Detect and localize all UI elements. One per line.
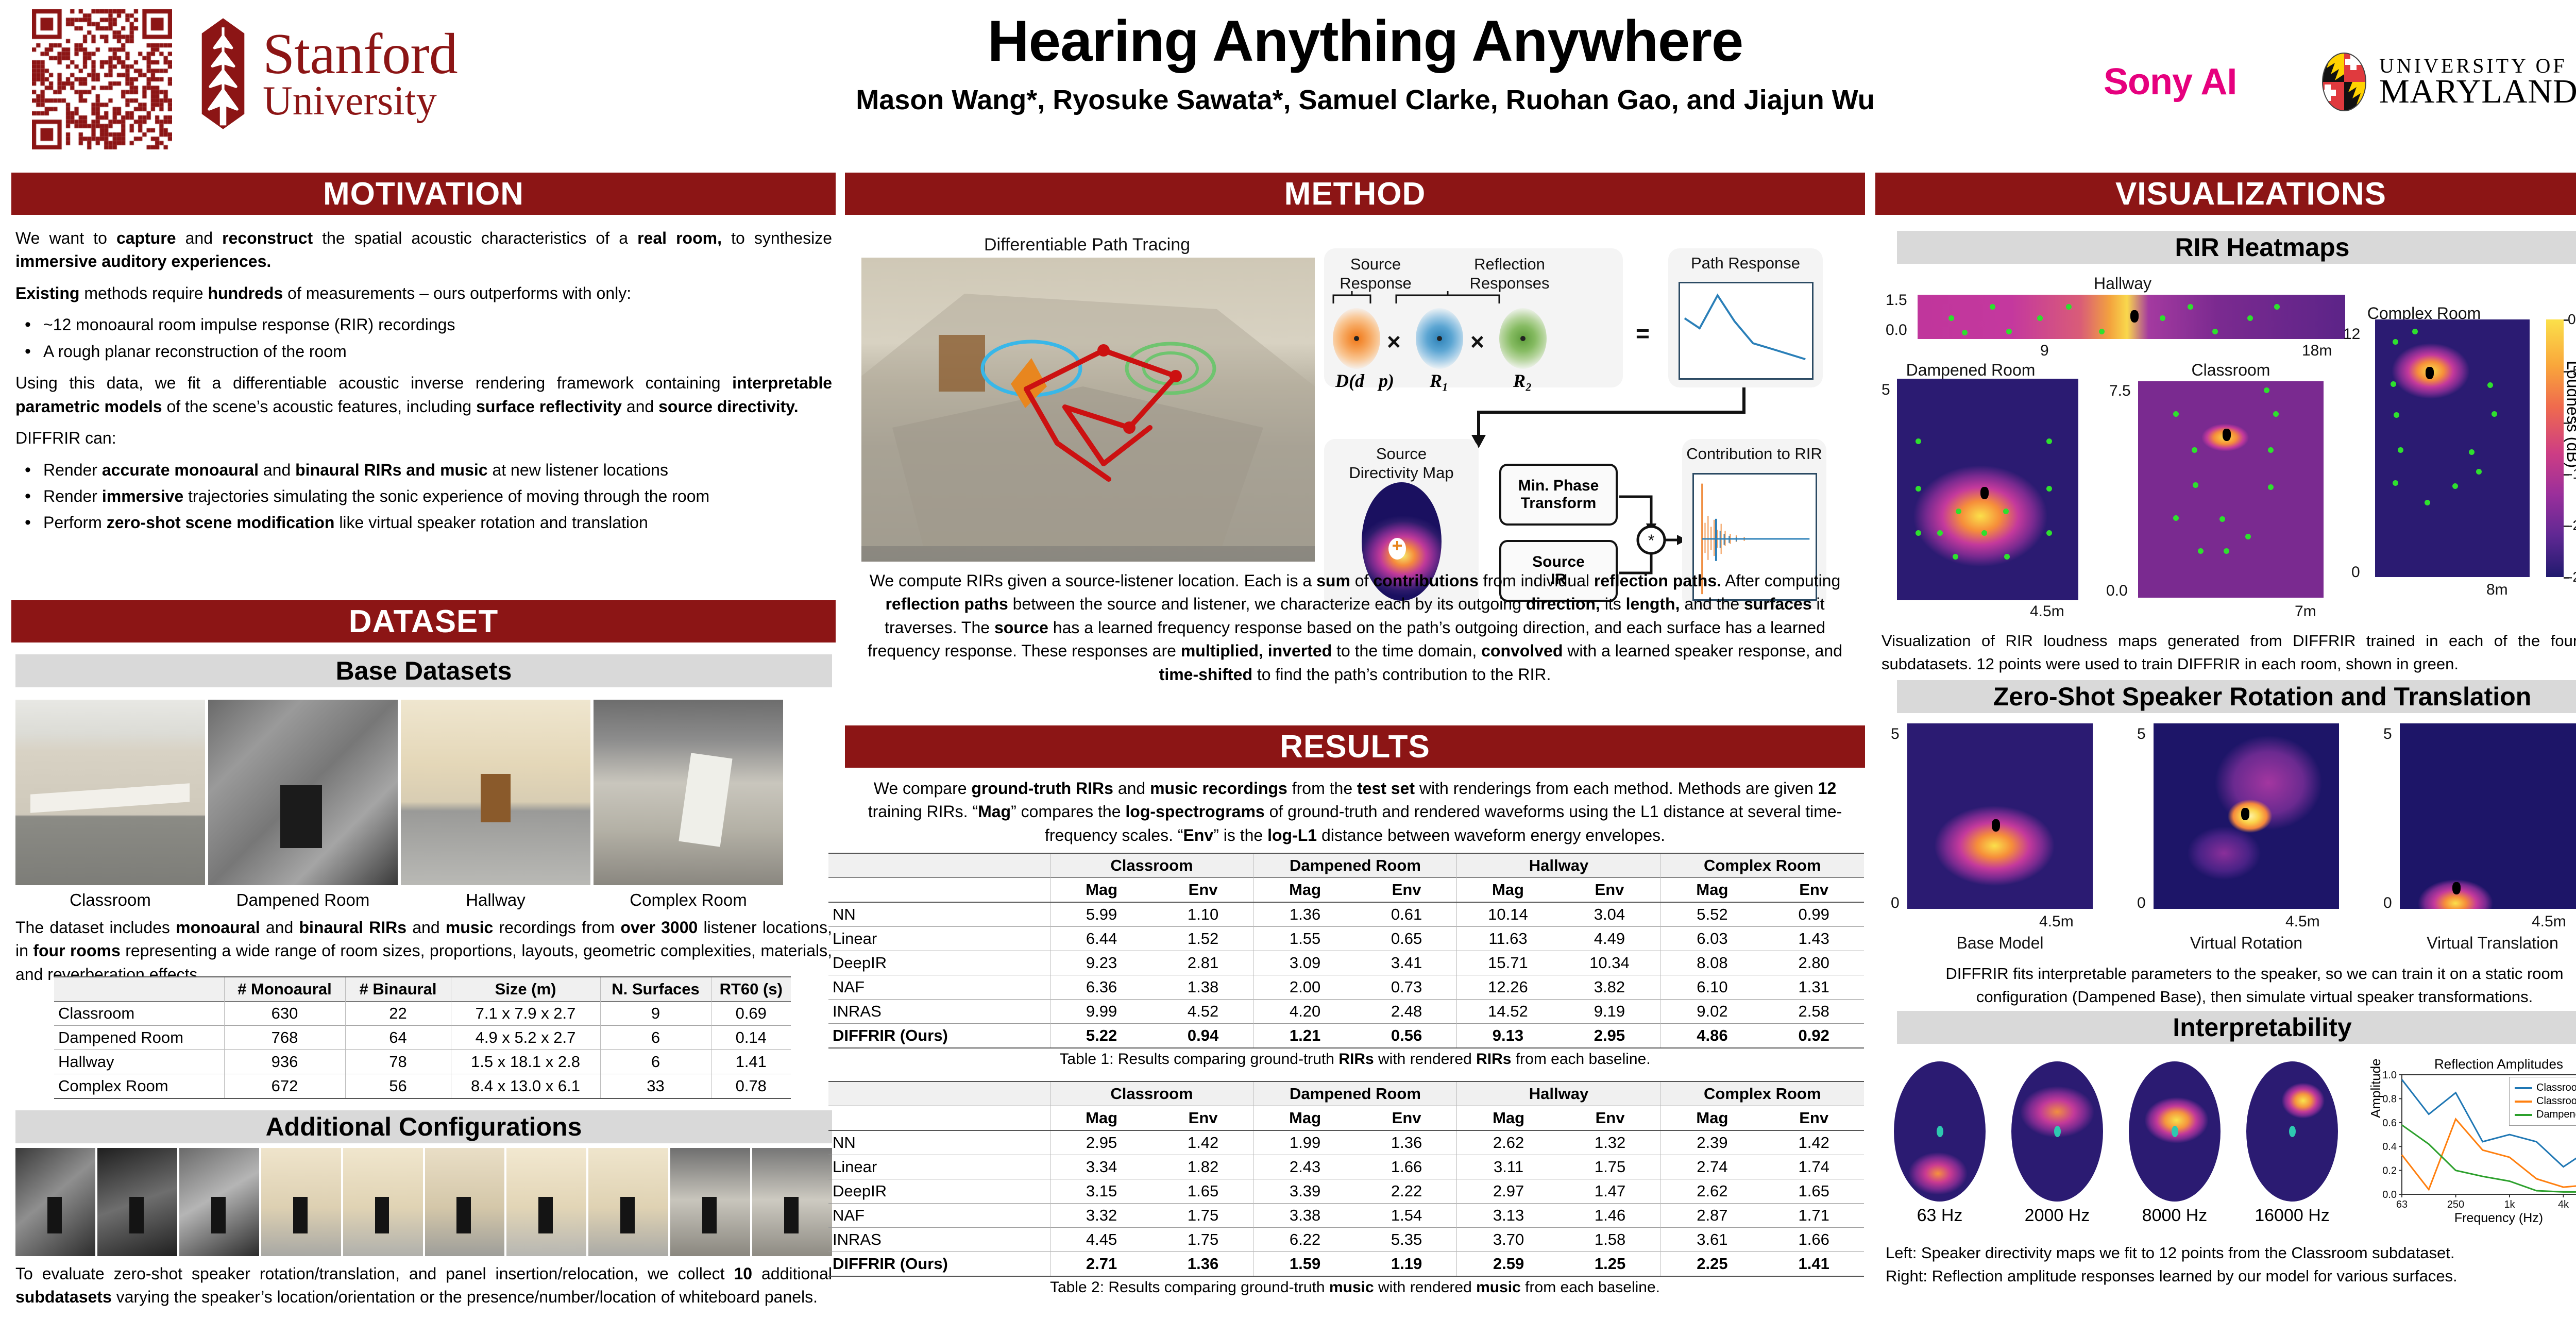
- svg-text:63: 63: [2396, 1199, 2408, 1210]
- col-header-metric-5: Env: [1560, 1106, 1660, 1131]
- heatmap-title-hallway: Hallway: [1906, 274, 2339, 293]
- additional-config-description: To evaluate zero-shot speaker rotation/t…: [15, 1262, 832, 1317]
- cell-method: DeepIR: [828, 1179, 1050, 1204]
- cell-value: 3.61: [1660, 1228, 1764, 1252]
- table-row: Hallway 936 78 1.5 x 18.1 x 2.8 6 1.41: [54, 1050, 791, 1074]
- complex-ytick-min: 0: [2351, 564, 2360, 581]
- label-source-directivity-map: SourceDirectivity Map: [1324, 444, 1479, 482]
- cell-value: 9.23: [1050, 951, 1153, 975]
- cell-value: 1.36: [1253, 902, 1357, 927]
- svg-text:0.8: 0.8: [2382, 1093, 2397, 1105]
- cell-value: 1.32: [1560, 1130, 1660, 1155]
- cell-value: 2.80: [1764, 951, 1864, 975]
- colorbar-label: Loudness (dB): [2563, 361, 2576, 468]
- cell-value: 6.36: [1050, 975, 1153, 1000]
- cell-value: 5.35: [1357, 1228, 1457, 1252]
- col-header-method: [828, 1081, 1050, 1106]
- cell-value: 3.15: [1050, 1179, 1153, 1204]
- additional-config-photo-10: [752, 1148, 832, 1256]
- table-row: NN2.951.421.991.362.621.322.391.42: [828, 1130, 1864, 1155]
- zeroshot-heatmap-base-model: [1907, 723, 2093, 909]
- cell-value: 1.66: [1764, 1228, 1864, 1252]
- col-group-0: Classroom: [1050, 1081, 1253, 1106]
- col-header-metric-2: Mag: [1253, 1106, 1357, 1131]
- cell-rt60: 0.78: [711, 1074, 791, 1099]
- section-header-motivation: MOTIVATION: [11, 173, 836, 215]
- zeroshot-label-virtual-translation: Virtual Translation: [2400, 934, 2576, 953]
- chart-ylabel: Amplitude: [2368, 1058, 2384, 1118]
- cell-value: 1.58: [1560, 1228, 1660, 1252]
- col-header-metric-0: Mag: [1050, 1106, 1153, 1131]
- cell-value: 9.02: [1660, 1000, 1764, 1024]
- cell-value: 0.73: [1357, 975, 1457, 1000]
- page-title: Hearing Anything Anywhere: [706, 10, 2025, 73]
- table-row: NAF6.361.382.000.7312.263.826.101.31: [828, 975, 1864, 1000]
- dataset-table-body: Classroom 630 22 7.1 x 7.9 x 2.7 9 0.69 …: [54, 1002, 791, 1099]
- colorbar-tick-0: 0: [2568, 311, 2576, 328]
- cell-value: 1.99: [1253, 1130, 1357, 1155]
- speaker-marker: [1980, 487, 1989, 499]
- poster-header: Stanford University Hearing Anything Any…: [0, 0, 2576, 165]
- list-item: Render accurate monoaural and binaural R…: [15, 459, 832, 482]
- list-item: Perform zero-shot scene modification lik…: [15, 511, 832, 534]
- cell-value: 0.61: [1357, 902, 1457, 927]
- cell-value: 1.75: [1153, 1228, 1253, 1252]
- cell-value: 3.32: [1050, 1204, 1153, 1228]
- cell-monoaural: 630: [224, 1002, 345, 1026]
- section-header-results: RESULTS: [845, 725, 1865, 768]
- stanford-logo: Stanford University: [196, 14, 457, 133]
- directivity-label-8000hz: 8000 Hz: [2129, 1206, 2221, 1226]
- cell-value: 3.34: [1050, 1155, 1153, 1179]
- cell-value: 1.71: [1764, 1204, 1864, 1228]
- cell-value: 1.75: [1560, 1155, 1660, 1179]
- zs2-ytick-min: 0: [2137, 894, 2146, 912]
- col-header-rt60: RT60 (s): [711, 977, 791, 1002]
- col-group-3: Complex Room: [1660, 853, 1864, 878]
- umd-wordmark-line2: MARYLAND: [2379, 76, 2576, 108]
- cell-value: 4.45: [1050, 1228, 1153, 1252]
- label-source-response: SourceResponse: [1329, 255, 1422, 293]
- cell-value: 1.46: [1560, 1204, 1660, 1228]
- col-group-3: Complex Room: [1660, 1081, 1864, 1106]
- cell-value: 1.36: [1153, 1252, 1253, 1277]
- complex-ytick-max: 12: [2343, 326, 2360, 343]
- path-tracing-overlay: [861, 258, 1315, 562]
- cell-value: 9.19: [1558, 1000, 1660, 1024]
- svg-text:0.2: 0.2: [2382, 1165, 2397, 1177]
- cell-method: NN: [828, 1130, 1050, 1155]
- col-group-2: Hallway: [1457, 853, 1660, 878]
- hallway-xtick-max: 18m: [2302, 342, 2332, 360]
- zeroshot-label-virtual-rotation: Virtual Rotation: [2154, 934, 2339, 953]
- hallway-ytick-max: 1.5: [1886, 292, 1907, 309]
- cell-surfaces: 6: [600, 1026, 711, 1050]
- cell-value: 9.13: [1457, 1024, 1559, 1049]
- zs2-xtick: 4.5m: [2285, 913, 2320, 931]
- cell-value: 0.92: [1764, 1024, 1864, 1049]
- method-body: We compute RIRs given a source-listener …: [850, 569, 1860, 695]
- cell-value: 2.39: [1660, 1130, 1764, 1155]
- cell-monoaural: 936: [224, 1050, 345, 1074]
- cell-value: 4.20: [1253, 1000, 1357, 1024]
- list-item: A rough planar reconstruction of the roo…: [15, 340, 832, 363]
- legend-item-2: Dampened Wall: [2515, 1109, 2576, 1121]
- cell-binaural: 56: [345, 1074, 451, 1099]
- list-item: ~12 monoaural room impulse response (RIR…: [15, 313, 832, 336]
- table2-caption: Table 2: Results comparing ground-truth …: [845, 1277, 1865, 1298]
- table-row: NN5.991.101.360.6110.143.045.520.99: [828, 902, 1864, 927]
- cell-monoaural: 672: [224, 1074, 345, 1099]
- dataset-room-table: # Monoaural # Binaural Size (m) N. Surfa…: [54, 976, 791, 1099]
- motivation-paragraph-2: Existing methods require hundreds of mea…: [15, 282, 832, 305]
- subsection-zero-shot: Zero-Shot Speaker Rotation and Translati…: [1897, 680, 2576, 713]
- colorbar-loudness: [2546, 319, 2564, 577]
- cell-value: 0.65: [1357, 927, 1457, 951]
- complex-xtick-max: 8m: [2486, 581, 2508, 599]
- cell-value: 1.65: [1153, 1179, 1253, 1204]
- cell-value: 6.03: [1660, 927, 1764, 951]
- additional-config-photo-2: [97, 1148, 177, 1256]
- cell-value: 1.52: [1153, 927, 1253, 951]
- brace-icons: [1329, 291, 1618, 307]
- cell-value: 5.22: [1050, 1024, 1153, 1049]
- col-header-monoaural: # Monoaural: [224, 977, 345, 1002]
- col-header-metric-3: Env: [1357, 1106, 1457, 1131]
- min-phase-transform-node: Min. PhaseTransform: [1499, 464, 1618, 526]
- list-item: Render immersive trajectories simulating…: [15, 485, 832, 508]
- speaker-marker: [2426, 367, 2434, 379]
- cell-value: 5.52: [1660, 902, 1764, 927]
- title-block: Hearing Anything Anywhere Mason Wang*, R…: [706, 10, 2025, 116]
- col-header-binaural: # Binaural: [345, 977, 451, 1002]
- col-header-metric-3: Env: [1357, 878, 1457, 903]
- directivity-map-2000hz: [2011, 1061, 2103, 1202]
- cell-value: 10.14: [1457, 902, 1559, 927]
- label-D-d-p: D(d⃗p): [1335, 370, 1394, 392]
- table-row: Linear3.341.822.431.663.111.752.741.74: [828, 1155, 1864, 1179]
- umd-logo: UNIVERSITY OF MARYLAND: [2318, 52, 2576, 112]
- zs1-ytick-min: 0: [1891, 894, 1900, 912]
- section-header-visualizations: VISUALIZATIONS: [1875, 173, 2576, 215]
- cell-value: 1.47: [1560, 1179, 1660, 1204]
- heatmap-dampened-room: [1897, 379, 2078, 600]
- cell-value: 2.22: [1357, 1179, 1457, 1204]
- cell-binaural: 78: [345, 1050, 451, 1074]
- subsection-base-datasets: Base Datasets: [15, 654, 832, 687]
- reflection-response-2-blob: [1499, 308, 1547, 369]
- cell-room: Classroom: [54, 1002, 224, 1026]
- cell-value: 3.39: [1253, 1179, 1357, 1204]
- cell-method: Linear: [828, 1155, 1050, 1179]
- svg-text:250: 250: [2447, 1199, 2464, 1210]
- zeroshot-label-base-model: Base Model: [1907, 934, 2093, 953]
- col-group-0: Classroom: [1050, 853, 1253, 878]
- col-header-metric-6: Mag: [1660, 1106, 1764, 1131]
- photo-label-classroom: Classroom: [15, 890, 205, 910]
- cell-value: 8.08: [1660, 951, 1764, 975]
- legend-item-1: Classroom Floor: [2515, 1095, 2576, 1107]
- heatmap-caption: Visualization of RIR loudness maps gener…: [1882, 630, 2576, 676]
- additional-config-photo-5: [343, 1148, 423, 1256]
- heatmap-classroom: [2138, 381, 2324, 598]
- cell-value: 3.09: [1253, 951, 1357, 975]
- photo-classroom: [15, 700, 205, 885]
- cell-value: 6.44: [1050, 927, 1153, 951]
- subsection-interpretability: Interpretability: [1897, 1011, 2576, 1044]
- col-header-metric-5: Env: [1558, 878, 1660, 903]
- path-response-plot: [1679, 282, 1814, 380]
- col-header-metric-0: Mag: [1050, 878, 1153, 903]
- cell-value: 9.99: [1050, 1000, 1153, 1024]
- cell-value: 2.43: [1253, 1155, 1357, 1179]
- svg-text:0.6: 0.6: [2382, 1118, 2397, 1129]
- cell-surfaces: 33: [600, 1074, 711, 1099]
- cell-value: 1.75: [1153, 1204, 1253, 1228]
- photo-hallway: [401, 700, 590, 885]
- cell-rt60: 0.69: [711, 1002, 791, 1026]
- zs3-xtick: 4.5m: [2532, 913, 2566, 931]
- photo-label-complex-room: Complex Room: [594, 890, 783, 910]
- speaker-marker: [2223, 429, 2231, 441]
- cell-value: 1.25: [1560, 1252, 1660, 1277]
- motivation-bullet-list-2: Render accurate monoaural and binaural R…: [15, 459, 832, 535]
- table1-caption: Table 1: Results comparing ground-truth …: [845, 1049, 1865, 1070]
- motivation-bullet-list-1: ~12 monoaural room impulse response (RIR…: [15, 313, 832, 363]
- path-response-line: [1680, 283, 1812, 378]
- legend-item-0: Classroom Wall: [2515, 1082, 2576, 1094]
- col-header-metric-4: Mag: [1457, 878, 1559, 903]
- motivation-paragraph-3: Using this data, we fit a differentiable…: [15, 371, 832, 418]
- heatmap-complex-room: [2375, 319, 2530, 577]
- additional-config-photo-9: [670, 1148, 750, 1256]
- table-row: Classroom 630 22 7.1 x 7.9 x 2.7 9 0.69: [54, 1002, 791, 1026]
- cell-value: 2.95: [1050, 1130, 1153, 1155]
- qr-code[interactable]: [32, 9, 172, 149]
- chart-xlabel: Frequency (Hz): [2370, 1211, 2576, 1226]
- reflection-response-1-blob: [1416, 308, 1463, 369]
- cell-method: DeepIR: [828, 951, 1050, 975]
- zs2-ytick-max: 5: [2137, 725, 2146, 743]
- table-row: DIFFRIR (Ours)2.711.361.591.192.591.252.…: [828, 1252, 1864, 1277]
- cell-size: 8.4 x 13.0 x 6.1: [451, 1074, 600, 1099]
- cell-value: 1.36: [1357, 1130, 1457, 1155]
- col-header-metric-2: Mag: [1253, 878, 1357, 903]
- cell-value: 2.62: [1660, 1179, 1764, 1204]
- hallway-xtick-mid: 9: [2040, 342, 2049, 360]
- cell-value: 2.25: [1660, 1252, 1764, 1277]
- cell-value: 2.48: [1357, 1000, 1457, 1024]
- speaker-marker: [2452, 882, 2461, 894]
- photo-label-dampened-room: Dampened Room: [208, 890, 398, 910]
- col-group-2: Hallway: [1457, 1081, 1660, 1106]
- multiply-symbol-1: ×: [1387, 328, 1401, 356]
- colorbar-tick-3: -15: [2568, 466, 2576, 482]
- cell-value: 1.41: [1764, 1252, 1864, 1277]
- cell-surfaces: 6: [600, 1050, 711, 1074]
- cell-value: 4.49: [1558, 927, 1660, 951]
- cell-value: 1.42: [1764, 1130, 1864, 1155]
- heatmap-hallway: [1918, 295, 2345, 339]
- cell-value: 1.21: [1253, 1024, 1357, 1049]
- zs3-ytick-max: 5: [2383, 725, 2392, 743]
- photo-dampened-room: [208, 700, 398, 885]
- cell-value: 2.74: [1660, 1155, 1764, 1179]
- photo-label-hallway: Hallway: [401, 890, 590, 910]
- hallway-ytick-min: 0.0: [1886, 322, 1907, 339]
- cell-value: 1.31: [1764, 975, 1864, 1000]
- cell-value: 6.22: [1253, 1228, 1357, 1252]
- multiply-symbol-2: ×: [1470, 328, 1484, 356]
- cell-value: 10.34: [1558, 951, 1660, 975]
- cell-value: 0.94: [1153, 1024, 1253, 1049]
- cell-method: INRAS: [828, 1228, 1050, 1252]
- cell-value: 1.43: [1764, 927, 1864, 951]
- cell-value: 2.97: [1457, 1179, 1560, 1204]
- svg-text:1.0: 1.0: [2382, 1070, 2397, 1081]
- cell-value: 5.99: [1050, 902, 1153, 927]
- interpretability-caption-left: Left: Speaker directivity maps we fit to…: [1886, 1242, 2576, 1265]
- cell-method: NN: [828, 902, 1050, 927]
- section-header-dataset: DATASET: [11, 600, 836, 642]
- poster-root: Stanford University Hearing Anything Any…: [0, 0, 2576, 1319]
- photo-complex-room: [594, 700, 783, 885]
- cell-value: 1.65: [1764, 1179, 1864, 1204]
- cell-value: 2.62: [1457, 1130, 1560, 1155]
- cell-value: 11.63: [1457, 927, 1559, 951]
- cell-value: 4.52: [1153, 1000, 1253, 1024]
- zeroshot-heatmap-virtual-rotation: [2154, 723, 2339, 909]
- cell-value: 2.71: [1050, 1252, 1153, 1277]
- directivity-label-16000hz: 16000 Hz: [2246, 1206, 2338, 1226]
- cell-value: 1.59: [1253, 1252, 1357, 1277]
- cell-size: 7.1 x 7.9 x 2.7: [451, 1002, 600, 1026]
- cell-value: 3.82: [1558, 975, 1660, 1000]
- colorbar-tick-4: -20: [2568, 517, 2576, 534]
- zs3-ytick-min: 0: [2383, 894, 2392, 912]
- speaker-marker: [1992, 819, 2000, 832]
- cell-value: 2.81: [1153, 951, 1253, 975]
- dampened-xtick-max: 4.5m: [2030, 603, 2064, 620]
- results-intro: We compare ground-truth RIRs and music r…: [855, 777, 1855, 855]
- interpretability-caption-right: Right: Reflection amplitude responses le…: [1886, 1265, 2576, 1288]
- author-list: Mason Wang*, Ryosuke Sawata*, Samuel Cla…: [706, 84, 2025, 116]
- cell-value: 2.59: [1457, 1252, 1560, 1277]
- motivation-body: We want to capture and reconstruct the s…: [15, 227, 832, 538]
- zs1-ytick-max: 5: [1891, 725, 1900, 743]
- cell-value: 3.11: [1457, 1155, 1560, 1179]
- table-row: Linear6.441.521.550.6511.634.496.031.43: [828, 927, 1864, 951]
- directivity-map-8000hz: [2129, 1061, 2221, 1202]
- col-header-size: Size (m): [451, 977, 600, 1002]
- zeroshot-heatmap-virtual-translation: [2400, 723, 2576, 909]
- cell-method: NAF: [828, 1204, 1050, 1228]
- subsection-additional-configurations: Additional Configurations: [15, 1110, 832, 1143]
- cell-value: 0.99: [1764, 902, 1864, 927]
- cell-size: 1.5 x 18.1 x 2.8: [451, 1050, 600, 1074]
- cell-value: 2.00: [1253, 975, 1357, 1000]
- cell-method: DIFFRIR (Ours): [828, 1024, 1050, 1049]
- cell-value: 2.87: [1660, 1204, 1764, 1228]
- cell-value: 1.82: [1153, 1155, 1253, 1179]
- table-row: NAF3.321.753.381.543.131.462.871.71: [828, 1204, 1864, 1228]
- dampened-ytick-max: 5: [1882, 381, 1890, 399]
- table-row: DeepIR9.232.813.093.4115.7110.348.082.80: [828, 951, 1864, 975]
- additional-config-photo-7: [506, 1148, 586, 1256]
- chart-legend: Classroom WallClassroom FloorDampened Wa…: [2509, 1077, 2576, 1126]
- additional-config-photo-strip: [15, 1148, 832, 1256]
- col-header-metric-7: Env: [1764, 1106, 1864, 1131]
- section-header-method: METHOD: [845, 173, 1865, 215]
- table-row: INRAS9.994.524.202.4814.529.199.022.58: [828, 1000, 1864, 1024]
- cell-rt60: 1.41: [711, 1050, 791, 1074]
- cell-value: 1.42: [1153, 1130, 1253, 1155]
- cell-room: Complex Room: [54, 1074, 224, 1099]
- classroom-ytick-max: 7.5: [2109, 382, 2131, 400]
- cell-room: Dampened Room: [54, 1026, 224, 1050]
- cell-method: INRAS: [828, 1000, 1050, 1024]
- subsection-rir-heatmaps: RIR Heatmaps: [1897, 231, 2576, 264]
- label-path-response: Path Response: [1668, 253, 1823, 273]
- cell-value: 1.55: [1253, 927, 1357, 951]
- directivity-label-2000hz: 2000 Hz: [2011, 1206, 2103, 1226]
- cell-value: 1.10: [1153, 902, 1253, 927]
- additional-config-photo-8: [588, 1148, 668, 1256]
- colorbar-tickmark-3: [2564, 474, 2569, 476]
- cell-binaural: 64: [345, 1026, 451, 1050]
- directivity-map-16000hz: [2246, 1061, 2338, 1202]
- table-row: INRAS4.451.756.225.353.701.583.611.66: [828, 1228, 1864, 1252]
- cell-value: 1.19: [1357, 1252, 1457, 1277]
- cell-value: 3.04: [1558, 902, 1660, 927]
- svg-text:4k: 4k: [2558, 1199, 2569, 1210]
- equals-symbol: =: [1636, 319, 1650, 347]
- heatmap-title-classroom: Classroom: [2154, 361, 2308, 380]
- cell-binaural: 22: [345, 1002, 451, 1026]
- col-header-surfaces: N. Surfaces: [600, 977, 711, 1002]
- source-response-blob: [1333, 308, 1380, 369]
- additional-config-photo-3: [179, 1148, 259, 1256]
- cell-value: 2.95: [1558, 1024, 1660, 1049]
- col-header-metric-4: Mag: [1457, 1106, 1560, 1131]
- cell-value: 12.26: [1457, 975, 1559, 1000]
- svg-text:*: *: [1648, 531, 1654, 550]
- table-row: DeepIR3.151.653.392.222.971.472.621.65: [828, 1179, 1864, 1204]
- cell-method: Linear: [828, 927, 1050, 951]
- colorbar-tick-5: -25: [2568, 569, 2576, 585]
- label-contribution-to-rir: Contribution to RIR: [1682, 444, 1826, 463]
- svg-text:1k: 1k: [2504, 1199, 2515, 1210]
- directivity-map-63hz: [1894, 1061, 1986, 1202]
- col-header-metric-7: Env: [1764, 878, 1864, 903]
- cell-value: 2.58: [1764, 1000, 1864, 1024]
- reflection-amplitudes-chart: Reflection Amplitudes 0.00.20.40.60.81.0…: [2370, 1056, 2576, 1226]
- col-header-metric-1: Env: [1153, 1106, 1253, 1131]
- speaker-marker: [2241, 808, 2249, 820]
- cell-value: 3.41: [1357, 951, 1457, 975]
- label-reflection-responses: ReflectionResponses: [1437, 255, 1582, 293]
- cell-value: 3.13: [1457, 1204, 1560, 1228]
- results-table-rir: ClassroomDampened RoomHallwayComplex Roo…: [828, 853, 1864, 1049]
- additional-config-photo-6: [425, 1148, 505, 1256]
- interpretability-caption: Left: Speaker directivity maps we fit to…: [1886, 1242, 2576, 1288]
- cell-value: 6.10: [1660, 975, 1764, 1000]
- stanford-wordmark-line1: Stanford: [263, 27, 457, 81]
- col-group-1: Dampened Room: [1253, 853, 1457, 878]
- col-group-1: Dampened Room: [1253, 1081, 1457, 1106]
- motivation-paragraph-1: We want to capture and reconstruct the s…: [15, 227, 832, 274]
- cell-method: NAF: [828, 975, 1050, 1000]
